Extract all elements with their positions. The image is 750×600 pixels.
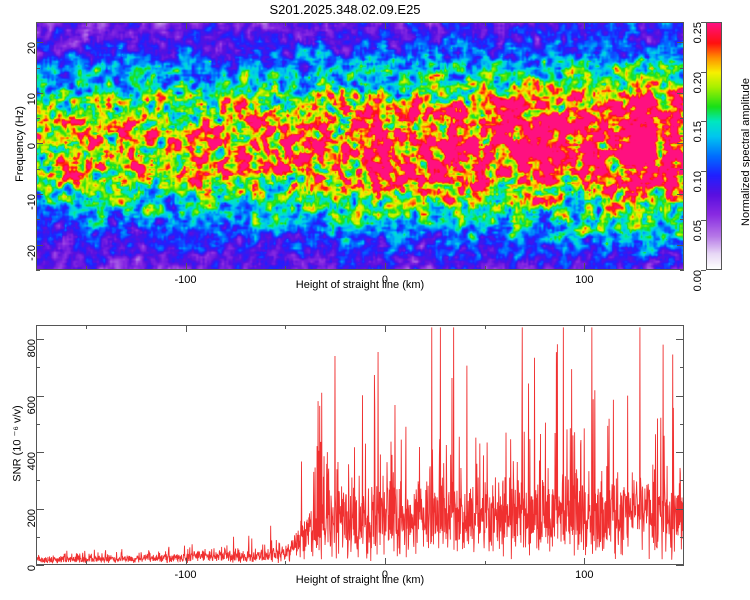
axis-tick — [285, 22, 286, 26]
axis-tick — [676, 339, 684, 340]
axis-tick — [680, 68, 684, 69]
axis-tick — [676, 509, 684, 510]
axis-tick — [285, 561, 286, 565]
spectrogram-plot-area — [36, 22, 684, 270]
axis-tick — [385, 22, 386, 29]
axis-tick — [385, 558, 386, 565]
axis-tick — [680, 118, 684, 119]
axis-tick — [485, 22, 486, 26]
colorbar-gradient — [707, 23, 721, 269]
colorbar — [706, 22, 722, 270]
axis-tick — [86, 22, 87, 26]
axis-tick — [680, 169, 684, 170]
axis-tick — [677, 143, 684, 144]
snr-polyline — [37, 327, 683, 563]
axis-tick — [186, 263, 187, 270]
axis-tick — [86, 561, 87, 565]
axis-tick — [680, 270, 684, 271]
axis-tick — [676, 396, 684, 397]
axis-tick — [584, 263, 585, 270]
axis-tick — [36, 537, 40, 538]
axis-tick — [186, 325, 187, 332]
axis-tick — [584, 325, 585, 332]
axis-tick — [36, 367, 40, 368]
snr-x-axis-title: Height of straight line (km) — [36, 574, 684, 586]
spectrogram-y-axis-title: Frequency (Hz) — [14, 84, 26, 204]
axis-tick — [36, 219, 40, 220]
axis-tick — [285, 266, 286, 270]
axis-tick — [36, 424, 40, 425]
axis-tick — [677, 93, 684, 94]
axis-tick — [485, 266, 486, 270]
axis-tick — [186, 22, 187, 29]
y-tick-label: -20 — [26, 245, 38, 261]
axis-tick — [680, 219, 684, 220]
axis-tick — [36, 118, 40, 119]
y-tick-label: 0 — [26, 565, 38, 571]
snr-y-axis-title: SNR (10 ⁻⁶ v/v) — [11, 379, 24, 509]
y-tick-label: 800 — [26, 339, 38, 357]
axis-tick — [86, 325, 87, 329]
colorbar-title: Normalized spectral amplitude — [740, 78, 750, 226]
axis-tick — [186, 558, 187, 565]
axis-tick — [385, 263, 386, 270]
axis-tick — [584, 558, 585, 565]
y-tick-label: 10 — [26, 93, 38, 105]
colorbar-tick-label: 0.25 — [692, 22, 704, 43]
y-tick-label: 600 — [26, 396, 38, 414]
y-tick-label: 400 — [26, 452, 38, 470]
spectrogram-image — [37, 23, 683, 269]
snr-plot-area — [36, 325, 684, 565]
spectrogram-x-axis-title: Height of straight line (km) — [36, 279, 684, 291]
y-tick-label: 0 — [26, 143, 38, 149]
axis-tick — [677, 194, 684, 195]
axis-tick — [485, 561, 486, 565]
axis-tick — [36, 169, 40, 170]
axis-tick — [485, 325, 486, 329]
colorbar-tick-label: 0.05 — [692, 220, 704, 241]
y-tick-label: -10 — [26, 194, 38, 210]
y-tick-label: 20 — [26, 42, 38, 54]
colorbar-tick-label: 0.20 — [692, 72, 704, 93]
axis-tick — [285, 325, 286, 329]
colorbar-tick-label: 0.00 — [692, 270, 704, 291]
snr-trace — [37, 326, 683, 564]
y-tick-label: 200 — [26, 509, 38, 527]
axis-tick — [680, 424, 684, 425]
axis-tick — [680, 480, 684, 481]
axis-tick — [677, 245, 684, 246]
axis-tick — [677, 42, 684, 43]
axis-tick — [680, 537, 684, 538]
colorbar-tick-label: 0.15 — [692, 121, 704, 142]
axis-tick — [676, 452, 684, 453]
axis-tick — [385, 325, 386, 332]
axis-tick — [676, 565, 684, 566]
figure-root: S201.2025.348.02.09.E25 -1000100 -20-100… — [0, 0, 750, 600]
axis-tick — [36, 68, 40, 69]
axis-tick — [86, 266, 87, 270]
figure-title: S201.2025.348.02.09.E25 — [0, 2, 690, 17]
axis-tick — [36, 270, 40, 271]
colorbar-tick-label: 0.10 — [692, 171, 704, 192]
axis-tick — [36, 480, 40, 481]
axis-tick — [584, 22, 585, 29]
axis-tick — [680, 367, 684, 368]
